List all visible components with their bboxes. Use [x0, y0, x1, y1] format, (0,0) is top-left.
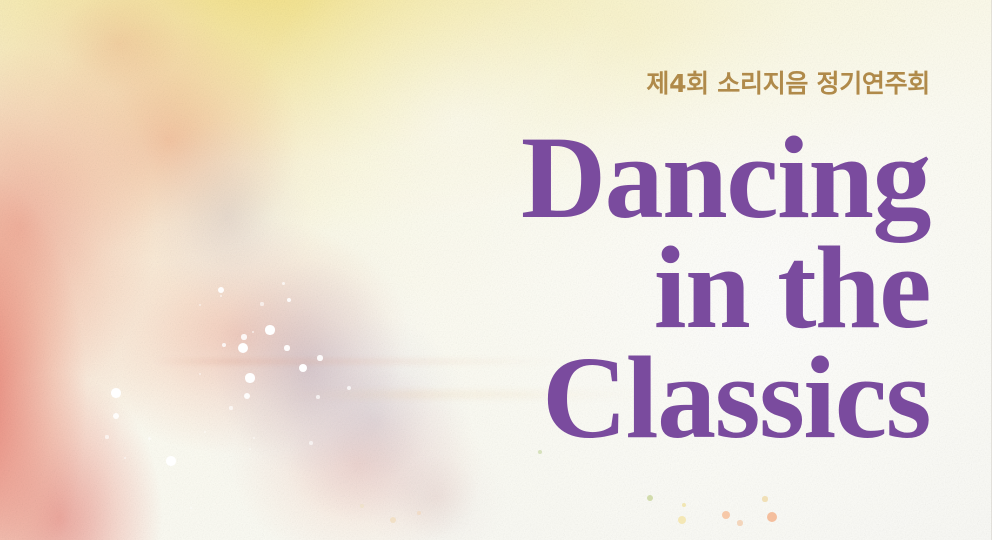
decorative-dot	[241, 334, 246, 339]
title-line-2: in the	[370, 233, 930, 343]
decorative-dot	[238, 343, 248, 353]
decorative-dot	[309, 441, 313, 445]
decorative-dot	[220, 295, 223, 298]
decorative-dot	[253, 437, 256, 440]
decorative-dot	[762, 496, 767, 501]
decorative-dot	[647, 495, 653, 501]
decorative-dot	[222, 343, 226, 347]
title-line-3: Classics	[370, 343, 930, 453]
decorative-dot	[249, 448, 251, 450]
decorative-dot	[218, 287, 224, 293]
decorative-dot	[199, 304, 202, 307]
decorative-dot	[417, 511, 421, 515]
decorative-dot	[199, 373, 201, 375]
decorative-dot	[245, 373, 254, 382]
decorative-dot	[284, 345, 289, 350]
decorative-dot	[360, 504, 364, 508]
decorative-dot	[148, 437, 151, 440]
decorative-dot	[722, 511, 731, 520]
decorative-dot	[282, 282, 285, 285]
poster-title: Dancing in the Classics	[370, 99, 930, 454]
decorative-dot	[682, 503, 686, 507]
decorative-dot	[105, 435, 108, 438]
decorative-dot	[767, 512, 777, 522]
decorative-dot	[166, 456, 176, 466]
decorative-dot	[287, 298, 291, 302]
poster-subtitle: 제4회 소리지음 정기연주회	[370, 0, 930, 99]
poster-text-block: 제4회 소리지음 정기연주회 Dancing in the Classics	[370, 0, 930, 454]
decorative-dot	[113, 413, 119, 419]
decorative-dot	[678, 516, 686, 524]
decorative-dot	[124, 457, 127, 460]
decorative-dot	[265, 325, 274, 334]
decorative-dot	[737, 520, 742, 525]
decorative-dot	[204, 431, 206, 433]
decorative-dot	[252, 331, 254, 333]
decorative-dot	[260, 302, 263, 305]
title-line-1: Dancing	[370, 123, 930, 233]
decorative-dot	[390, 517, 397, 524]
decorative-dot	[190, 507, 192, 509]
decorative-dot	[229, 406, 232, 409]
concert-poster: 제4회 소리지음 정기연주회 Dancing in the Classics	[0, 0, 992, 540]
